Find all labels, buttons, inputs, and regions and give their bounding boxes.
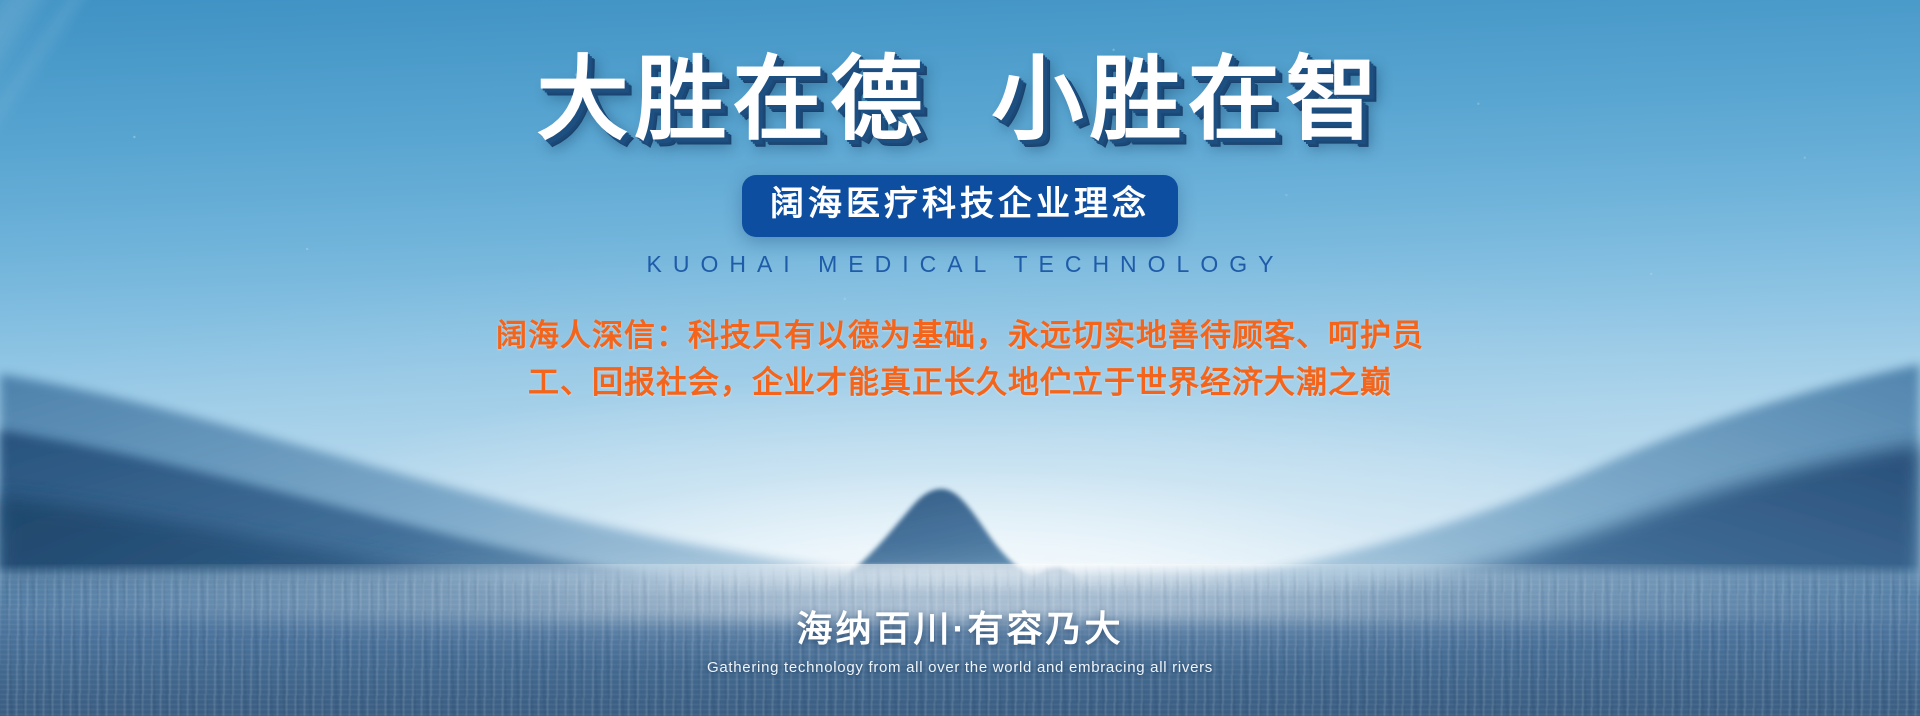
philosophy-statement: 阔海人深信：科技只有以德为基础，永远切实地善待顾客、呵护员 工、回报社会，企业才… xyxy=(496,312,1424,406)
philosophy-line-1: 阔海人深信：科技只有以德为基础，永远切实地善待顾客、呵护员 xyxy=(496,312,1424,359)
motto-english: Gathering technology from all over the w… xyxy=(0,659,1920,676)
motto-block: 海纳百川·有容乃大 Gathering technology from all … xyxy=(0,600,1920,676)
page-title: 大胜在德 小胜在智 xyxy=(536,52,1383,149)
hero-banner: 大胜在德 小胜在智 阔海医疗科技企业理念 KUOHAI MEDICAL TECH… xyxy=(0,0,1920,716)
concept-badge: 阔海医疗科技企业理念 xyxy=(742,175,1178,237)
philosophy-line-2: 工、回报社会，企业才能真正长久地伫立于世界经济大潮之巅 xyxy=(496,359,1424,406)
motto-chinese: 海纳百川·有容乃大 xyxy=(0,600,1920,652)
company-name-en: KUOHAI MEDICAL TECHNOLOGY xyxy=(636,251,1285,278)
